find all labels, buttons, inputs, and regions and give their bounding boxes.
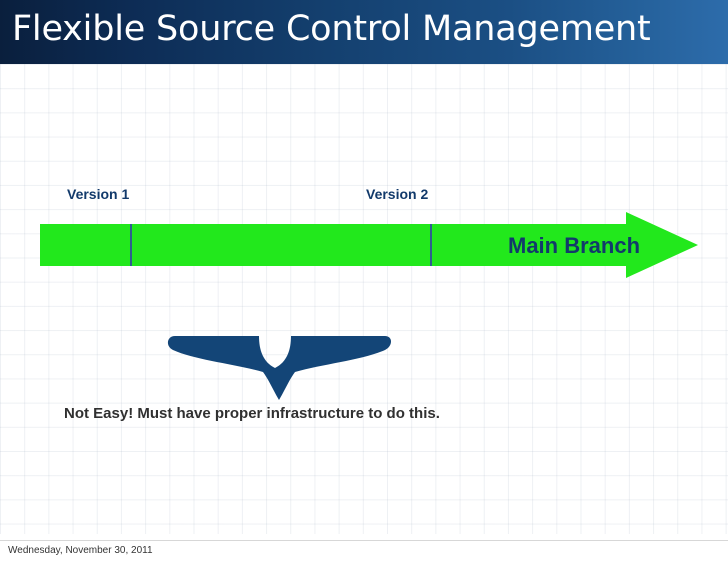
slide-content: Version 1 Version 2 Main Branch Not Easy…	[0, 64, 728, 561]
merge-ribbon-shape	[163, 336, 393, 402]
branch-divider-1	[130, 224, 132, 266]
main-branch-arrow: Main Branch	[40, 212, 700, 278]
slide-title-bar: Flexible Source Control Management	[0, 0, 728, 64]
version-1-label: Version 1	[67, 186, 129, 202]
version-2-label: Version 2	[366, 186, 428, 202]
diagram-caption: Not Easy! Must have proper infrastructur…	[64, 405, 440, 422]
footer-bar: Wednesday, November 30, 2011	[0, 540, 728, 561]
main-branch-label: Main Branch	[508, 233, 640, 259]
slide: Flexible Source Control Management Versi…	[0, 0, 728, 561]
page-title: Flexible Source Control Management	[12, 9, 651, 49]
branch-divider-2	[430, 224, 432, 266]
footer-date: Wednesday, November 30, 2011	[8, 545, 153, 556]
